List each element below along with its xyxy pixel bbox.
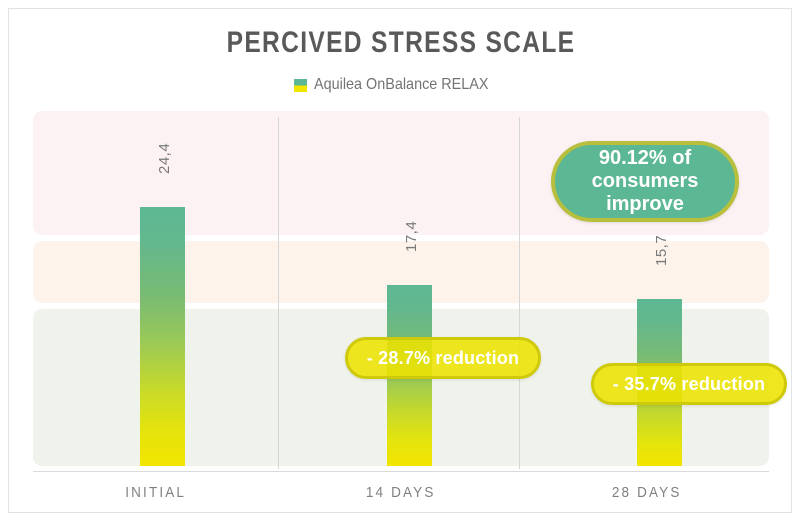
bar-value-initial: 24,4 — [156, 143, 173, 174]
callout-consumers-improve: 90.12% of consumers improve — [551, 141, 739, 222]
callout-reduction-28-days: - 35.7% reduction — [591, 363, 787, 405]
chart-title: PERCIVED STRESS SCALE — [80, 26, 723, 60]
category-divider-1 — [278, 117, 279, 469]
x-axis-label-14-days: 14 DAYS — [291, 484, 512, 501]
chart-legend: Aquilea OnBalance RELAX — [9, 76, 792, 94]
legend-label: Aquilea OnBalance RELAX — [314, 76, 489, 94]
bar-initial — [140, 207, 185, 466]
chart-card: PERCIVED STRESS SCALE Aquilea OnBalance … — [8, 8, 792, 513]
legend-swatch-icon — [294, 79, 307, 92]
x-axis-labels: INITIAL 14 DAYS 28 DAYS — [33, 484, 769, 501]
x-axis-label-28-days: 28 DAYS — [536, 484, 757, 501]
x-axis-line — [33, 471, 769, 472]
x-axis-label-initial: INITIAL — [45, 484, 266, 501]
bar-value-14-days: 17,4 — [403, 221, 420, 252]
category-divider-2 — [519, 117, 520, 469]
callout-reduction-14-days: - 28.7% reduction — [345, 337, 541, 379]
bar-value-28-days: 15,7 — [653, 235, 670, 266]
plot-area: 24,4 17,4 15,7 90.12% of consumers impro… — [33, 111, 769, 466]
